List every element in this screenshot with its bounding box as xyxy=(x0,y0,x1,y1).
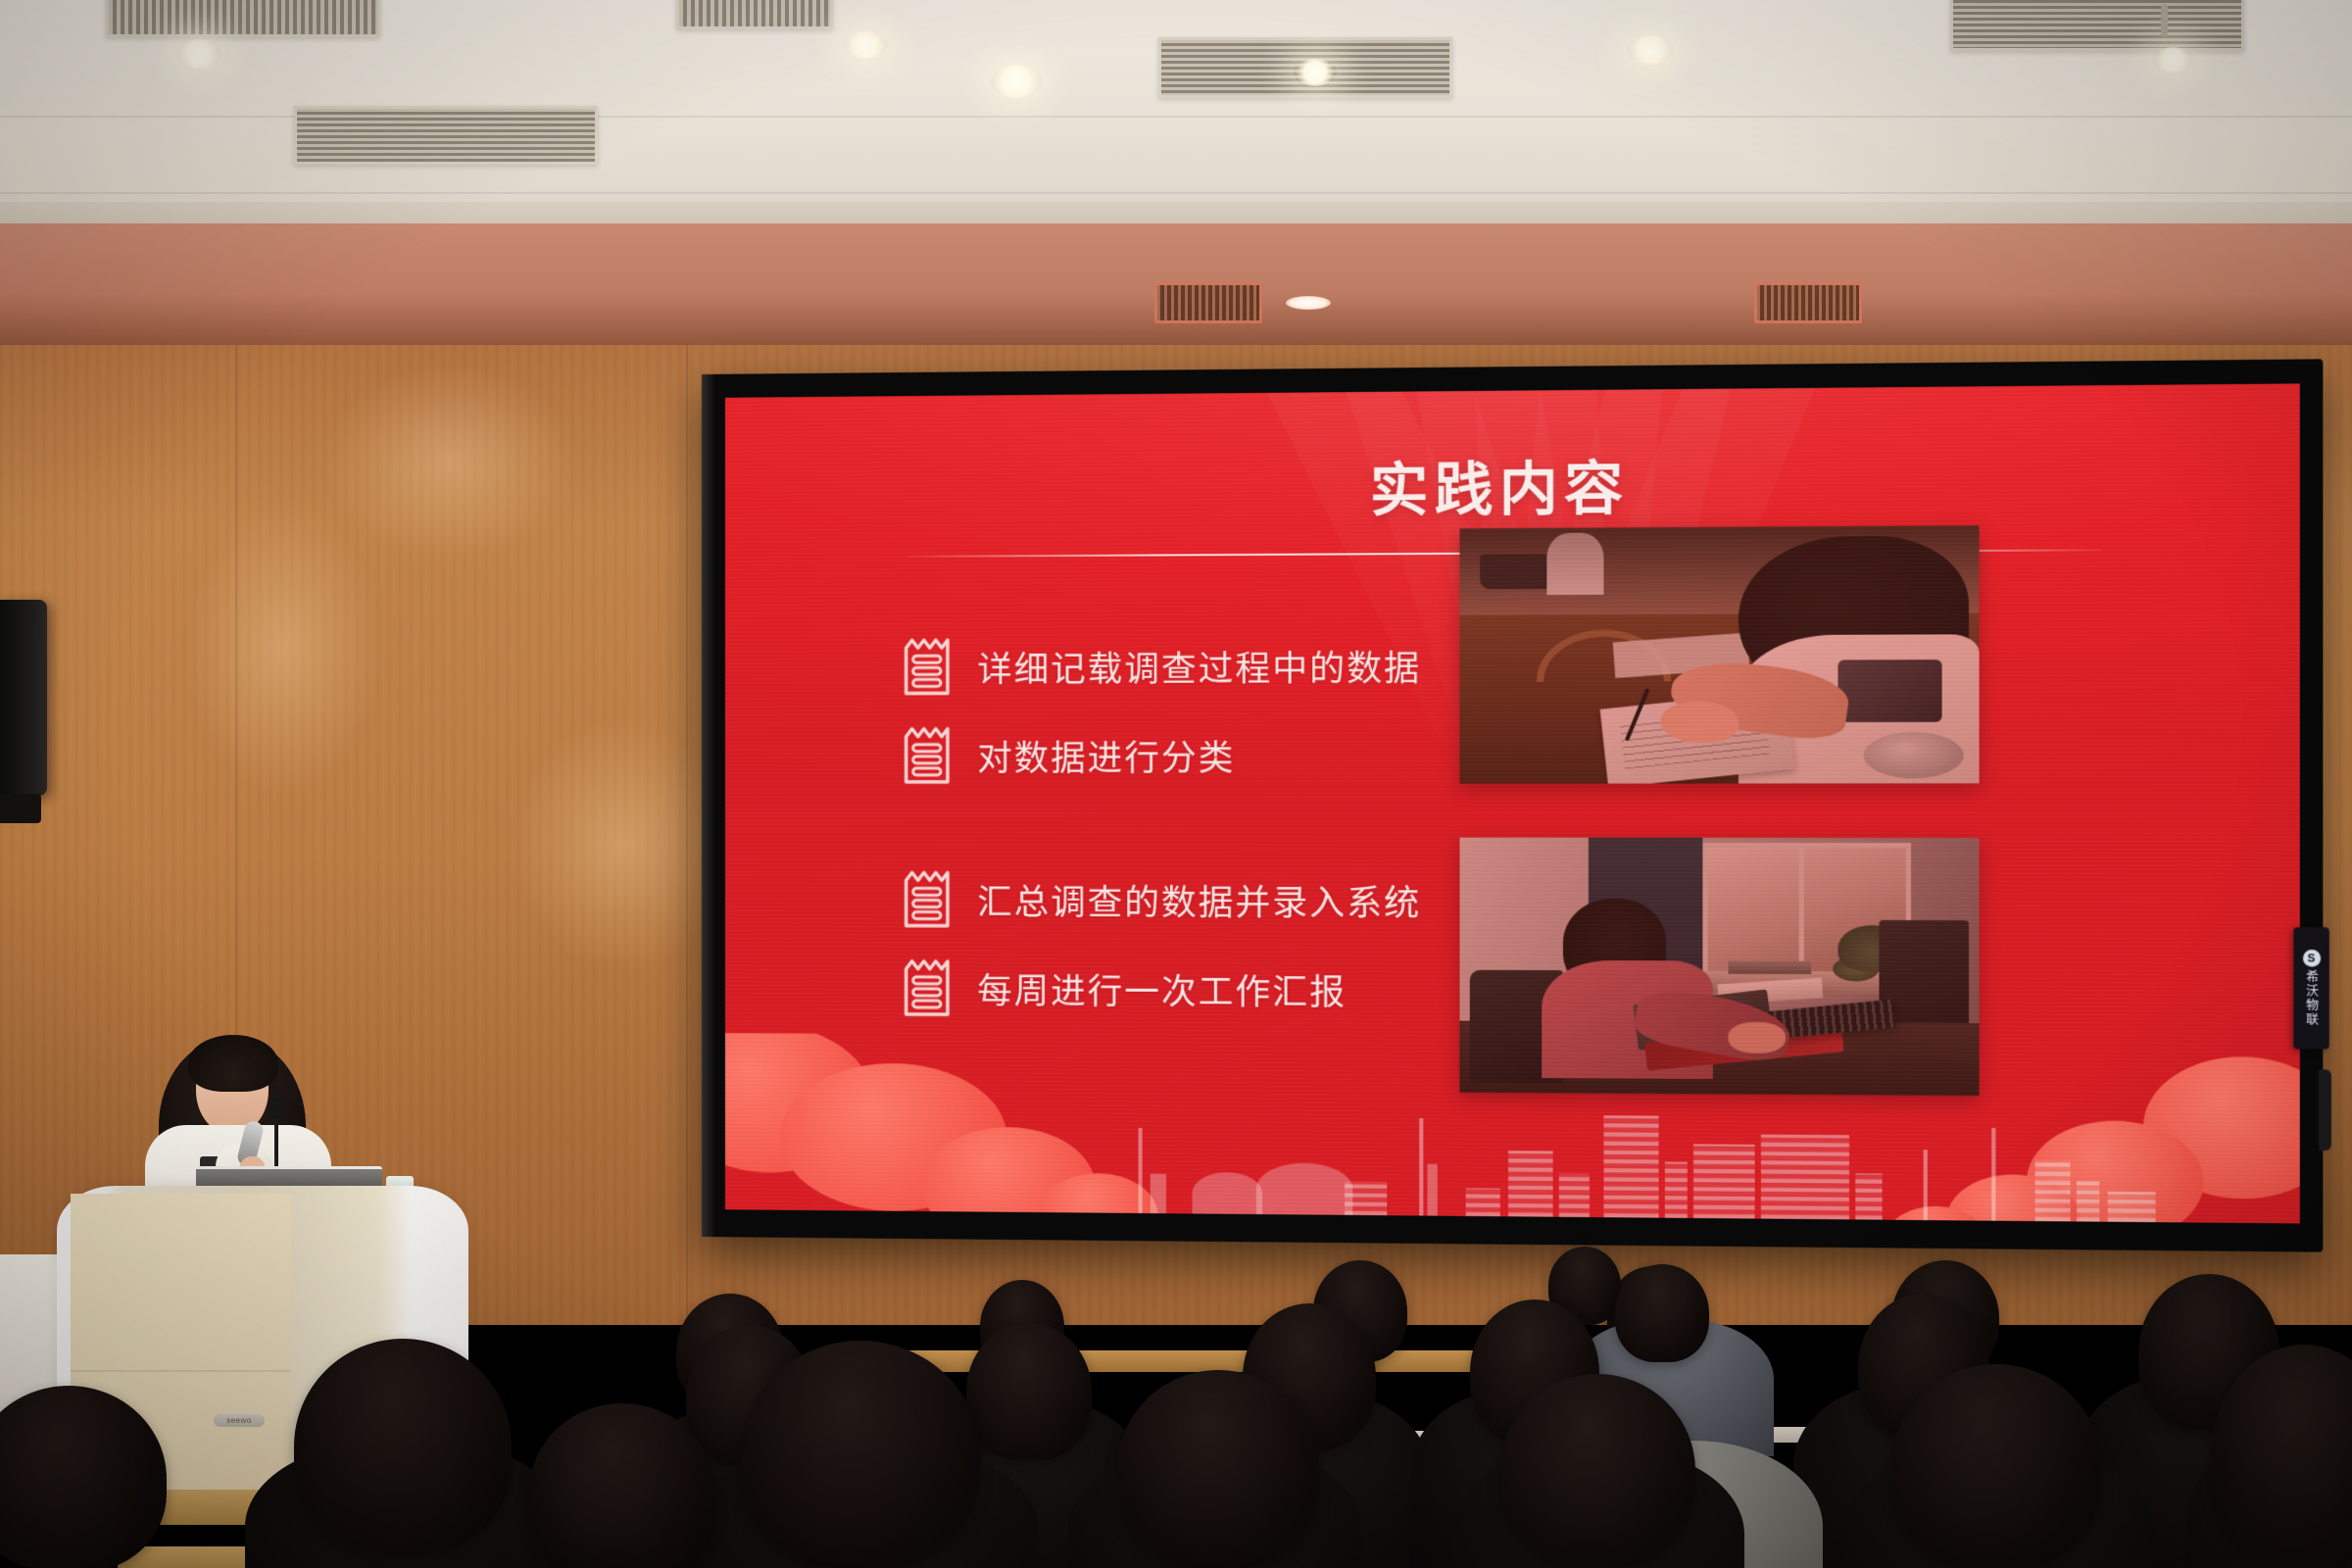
presentation-slide: 实践内容 xyxy=(725,383,2300,1223)
receipt-icon xyxy=(901,868,978,929)
ceiling-vent xyxy=(676,0,833,29)
slide-title: 实践内容 xyxy=(725,436,2300,531)
ceiling-downlight xyxy=(990,65,1043,98)
slide-bottom-decoration xyxy=(725,1033,2300,1223)
sprinkler-head xyxy=(2161,4,2168,37)
soffit-vent xyxy=(1754,282,1862,323)
screen-side-button[interactable] xyxy=(2319,1069,2331,1151)
ceiling-downlight xyxy=(843,31,888,59)
bullet-text: 每周进行一次工作汇报 xyxy=(977,962,1347,1014)
receipt-icon xyxy=(901,636,978,698)
wall-panel-seam xyxy=(686,345,688,1325)
ceiling-seam xyxy=(0,192,2352,194)
audience-head xyxy=(1117,1370,1319,1568)
audience-head xyxy=(1499,1374,1695,1568)
led-display-screen[interactable]: 实践内容 xyxy=(725,383,2300,1223)
seewo-logo-icon: S xyxy=(2302,950,2320,967)
ceiling-downlight xyxy=(1294,59,1337,86)
ceiling-vent xyxy=(106,0,380,37)
bullet-text: 对数据进行分类 xyxy=(977,730,1235,781)
receipt-icon xyxy=(901,957,978,1019)
soffit-vent xyxy=(1154,282,1262,323)
led-display-frame: 实践内容 xyxy=(702,359,2323,1251)
photo-fieldwork-writing xyxy=(1459,525,1979,783)
wall-texture xyxy=(186,502,382,796)
audience-head xyxy=(529,1403,715,1568)
audience-head xyxy=(741,1341,980,1568)
ceiling-downlight xyxy=(1627,35,1674,65)
seewo-logo-glyph: S xyxy=(2308,953,2316,964)
seewo-iot-tag: S 希沃物联 xyxy=(2293,927,2328,1049)
audience-head xyxy=(1891,1364,2101,1568)
bullet-text: 详细记载调查过程中的数据 xyxy=(977,640,1421,692)
wall-speaker xyxy=(0,600,47,796)
audience-head xyxy=(294,1339,512,1554)
audience-head xyxy=(966,1323,1092,1460)
ceiling-vent xyxy=(294,106,598,165)
ceiling-downlight xyxy=(2152,47,2193,73)
podium-microphone-head xyxy=(269,1098,284,1119)
soffit-light xyxy=(1286,296,1331,310)
wall-texture xyxy=(323,365,578,561)
seewo-iot-label: 希沃物联 xyxy=(2305,970,2319,1027)
ceiling-downlight xyxy=(176,39,221,69)
audience-head xyxy=(1615,1264,1709,1362)
bullet-text: 汇总调查的数据并录入系统 xyxy=(977,874,1421,925)
receipt-icon xyxy=(901,725,978,786)
auditorium-presentation-photo: 实践内容 xyxy=(0,0,2352,1568)
ceiling-vent xyxy=(1950,0,2244,51)
